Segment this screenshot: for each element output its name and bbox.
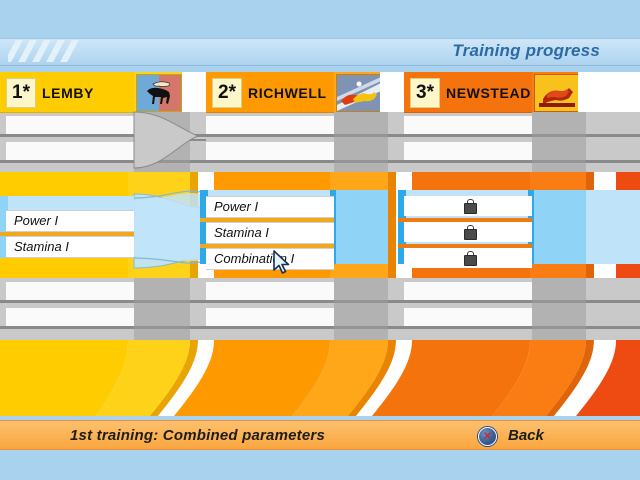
horse-name: LEMBY <box>42 72 94 112</box>
locked-skill-chip[interactable] <box>404 248 532 268</box>
jockey-red-icon <box>534 74 580 112</box>
padlock-icon <box>464 225 475 238</box>
horse-name: RICHWELL <box>248 72 327 112</box>
horse-rank-badge: 2* <box>212 78 242 108</box>
game-screen: Training progress <box>0 0 640 480</box>
back-label: Back <box>508 421 544 449</box>
locked-skill-chip[interactable] <box>404 222 532 242</box>
header-gap <box>380 72 404 112</box>
footer-bar: 1st training: Combined parameters ✕ Back <box>0 420 640 450</box>
cross-button-icon: ✕ <box>478 427 497 446</box>
skill-label: Power I <box>14 211 58 231</box>
skill-chip-selected[interactable]: Combination I <box>206 248 334 270</box>
skill-chip[interactable]: Stamina I <box>206 222 334 244</box>
training-board: Power I Stamina I Power I Stamina I Comb… <box>0 72 640 416</box>
horse-header-3[interactable]: 3* NEWSTEAD <box>404 72 532 113</box>
padlock-icon <box>464 251 475 264</box>
highlight-band <box>532 190 586 264</box>
horse-silhouette-icon <box>136 74 182 112</box>
diagonal-stripes-icon <box>8 40 83 62</box>
skill-chip[interactable]: Power I <box>206 196 334 218</box>
racing-jockeys-icon <box>336 74 382 112</box>
skill-label: Stamina I <box>14 237 69 257</box>
horse-rank-badge: 1* <box>6 78 36 108</box>
horse-header-2[interactable]: 2* RICHWELL <box>206 72 334 113</box>
header-gap <box>182 72 206 112</box>
highlight-band <box>334 190 388 264</box>
skill-chip[interactable]: Stamina I <box>6 236 134 258</box>
horse-name: NEWSTEAD <box>446 72 531 112</box>
horse-header-1[interactable]: 1* LEMBY <box>0 72 134 113</box>
page-title: Training progress <box>452 39 600 63</box>
skill-label: Power I <box>214 197 258 217</box>
status-text: 1st training: Combined parameters <box>70 421 325 449</box>
mouse-pointer-icon <box>272 250 292 276</box>
horse-rank-badge: 3* <box>410 78 440 108</box>
skill-chip[interactable]: Power I <box>6 210 134 232</box>
locked-skill-chip[interactable] <box>404 196 532 216</box>
highlight-band <box>586 190 640 264</box>
padlock-icon <box>464 199 475 212</box>
header-gap <box>578 72 640 112</box>
skill-label: Stamina I <box>214 223 269 243</box>
